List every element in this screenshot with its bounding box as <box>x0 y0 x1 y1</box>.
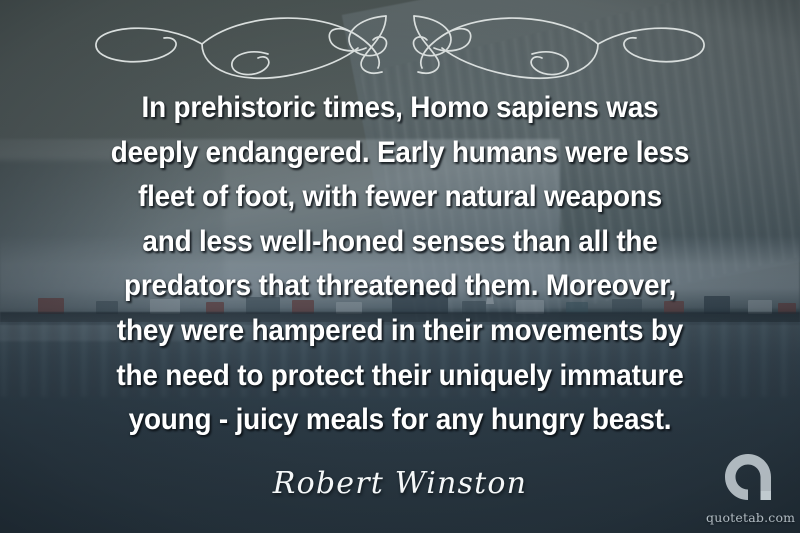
card-content: In prehistoric times, Homo sapiens was d… <box>0 0 800 533</box>
decorative-flourish-icon <box>90 8 710 80</box>
quote-text: In prehistoric times, Homo sapiens was d… <box>65 86 735 443</box>
site-logo[interactable]: quotetab.com <box>706 451 792 525</box>
quote-author: Robert Winston <box>0 466 800 501</box>
quotetab-q-icon <box>722 451 774 503</box>
site-logo-text: quotetab.com <box>706 510 792 525</box>
quote-image-card: In prehistoric times, Homo sapiens was d… <box>0 0 800 533</box>
